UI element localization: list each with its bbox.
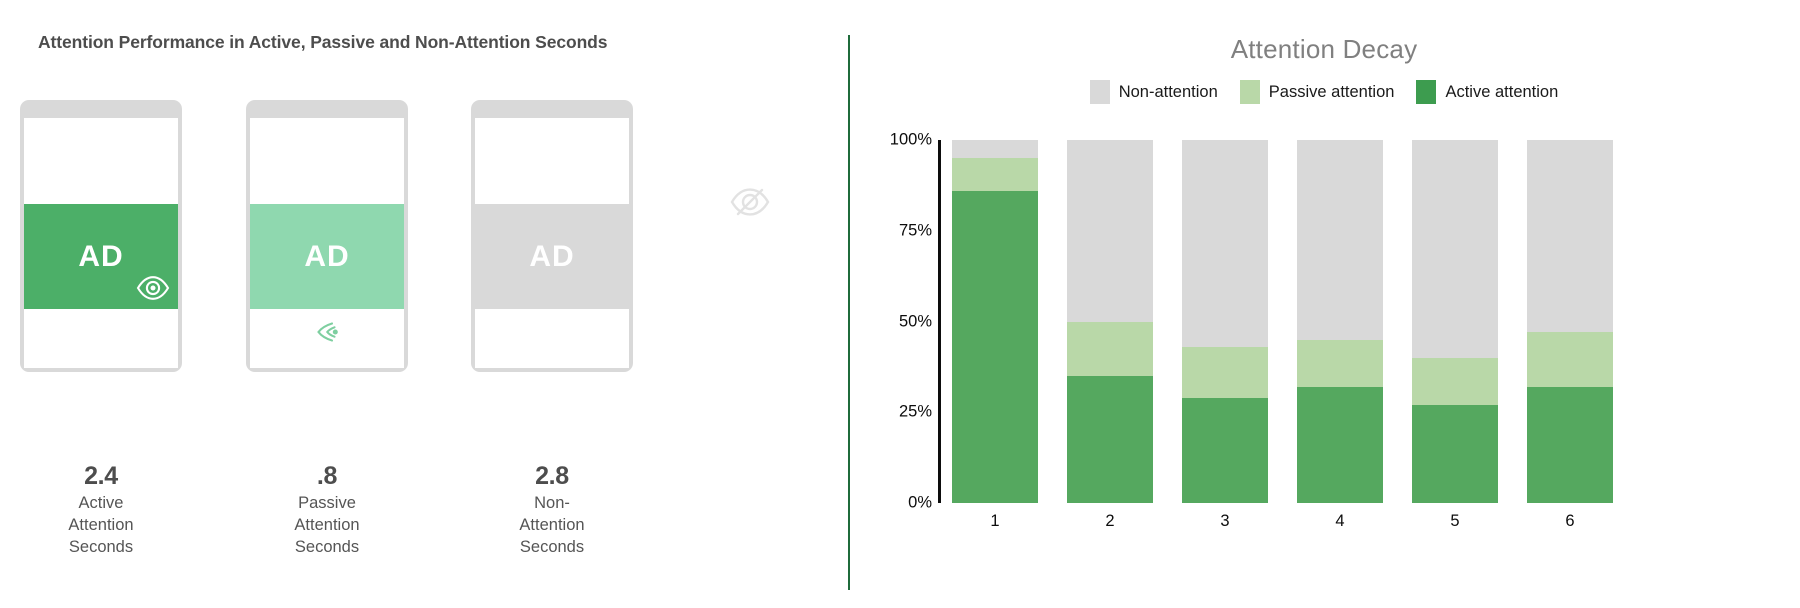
bar-stack[interactable] <box>1297 140 1383 503</box>
bar-stack[interactable] <box>1412 140 1498 503</box>
stat-label: Active Attention Seconds <box>26 493 176 559</box>
x-axis-tick: 5 <box>1412 512 1498 531</box>
y-axis-line <box>938 140 941 503</box>
stat-value: .8 <box>252 462 402 490</box>
bar-segment-active-attention[interactable] <box>1067 376 1153 503</box>
bar-segment-passive-attention[interactable] <box>1527 332 1613 386</box>
stat-passive-attention: .8 Passive Attention Seconds <box>252 462 402 559</box>
ad-label: AD <box>304 242 349 272</box>
ad-banner-active: AD <box>24 204 178 309</box>
bar-segment-active-attention[interactable] <box>1182 398 1268 503</box>
x-axis-tick: 2 <box>1067 512 1153 531</box>
bar-stack[interactable] <box>1527 140 1613 503</box>
bar-group <box>952 140 1772 503</box>
phone-screen-active: AD <box>24 118 178 368</box>
x-axis-tick: 3 <box>1182 512 1268 531</box>
ad-label: AD <box>529 242 574 272</box>
eye-icon <box>136 271 170 305</box>
x-axis-tick: 1 <box>952 512 1038 531</box>
stat-value: 2.8 <box>477 462 627 490</box>
stat-label-line: Seconds <box>252 537 402 559</box>
screenshot-root: Attention Performance in Active, Passive… <box>0 0 1800 608</box>
bar-segment-non-attention[interactable] <box>1067 140 1153 322</box>
bar-segment-active-attention[interactable] <box>1527 387 1613 503</box>
bar-segment-non-attention[interactable] <box>1527 140 1613 332</box>
bar-stack[interactable] <box>1182 140 1268 503</box>
stat-label: Passive Attention Seconds <box>252 493 402 559</box>
attention-performance-panel: Attention Performance in Active, Passive… <box>0 0 848 608</box>
stat-label-line: Non- <box>477 493 627 515</box>
stat-active-attention: 2.4 Active Attention Seconds <box>26 462 176 559</box>
bar-segment-passive-attention[interactable] <box>1297 340 1383 387</box>
bar-segment-passive-attention[interactable] <box>1412 358 1498 405</box>
bar-segment-passive-attention[interactable] <box>1067 322 1153 376</box>
x-axis-tick-labels: 123456 <box>952 512 1772 531</box>
stacked-bar-chart: 0%25%50%75%100% 123456 <box>848 0 1800 608</box>
bar-segment-active-attention[interactable] <box>1412 405 1498 503</box>
y-axis-tick: 50% <box>864 312 932 331</box>
bar-segment-non-attention[interactable] <box>1412 140 1498 358</box>
y-axis-tick: 25% <box>864 403 932 422</box>
attention-decay-panel: Attention Decay Non-attention Passive at… <box>848 0 1800 608</box>
y-axis-tick: 0% <box>864 494 932 513</box>
phone-screen-passive: AD <box>250 118 404 368</box>
phone-screen-non-attention: AD <box>475 118 629 368</box>
phone-mockup-passive: AD <box>246 100 408 372</box>
x-axis-tick: 4 <box>1297 512 1383 531</box>
page-title: Attention Performance in Active, Passive… <box>38 32 607 53</box>
stat-non-attention: 2.8 Non- Attention Seconds <box>477 462 627 559</box>
stat-value: 2.4 <box>26 462 176 490</box>
stat-label-line: Seconds <box>26 537 176 559</box>
stat-label-line: Attention <box>26 515 176 537</box>
bar-segment-passive-attention[interactable] <box>952 158 1038 191</box>
stat-label-line: Active <box>26 493 176 515</box>
eye-peripheral-icon <box>313 318 341 346</box>
phone-mockup-active: AD <box>20 100 182 372</box>
bar-segment-active-attention[interactable] <box>1297 387 1383 503</box>
ad-banner-passive: AD <box>250 204 404 309</box>
bar-segment-active-attention[interactable] <box>952 191 1038 503</box>
stat-label-line: Attention <box>477 515 627 537</box>
bar-segment-non-attention[interactable] <box>952 140 1038 158</box>
bar-stack[interactable] <box>1067 140 1153 503</box>
bar-segment-non-attention[interactable] <box>1297 140 1383 340</box>
stat-label-line: Seconds <box>477 537 627 559</box>
stat-label: Non- Attention Seconds <box>477 493 627 559</box>
phone-mockup-non-attention: AD <box>471 100 633 372</box>
bar-segment-passive-attention[interactable] <box>1182 347 1268 398</box>
stat-label-line: Attention <box>252 515 402 537</box>
stat-label-line: Passive <box>252 493 402 515</box>
bar-stack[interactable] <box>952 140 1038 503</box>
bar-segment-non-attention[interactable] <box>1182 140 1268 347</box>
ad-label: AD <box>78 242 123 272</box>
eye-off-icon <box>728 180 772 224</box>
y-axis-tick: 75% <box>864 221 932 240</box>
y-axis-tick-labels: 0%25%50%75%100% <box>856 0 932 608</box>
ad-banner-non-attention: AD <box>475 204 629 309</box>
y-axis-tick: 100% <box>864 131 932 150</box>
x-axis-tick: 6 <box>1527 512 1613 531</box>
